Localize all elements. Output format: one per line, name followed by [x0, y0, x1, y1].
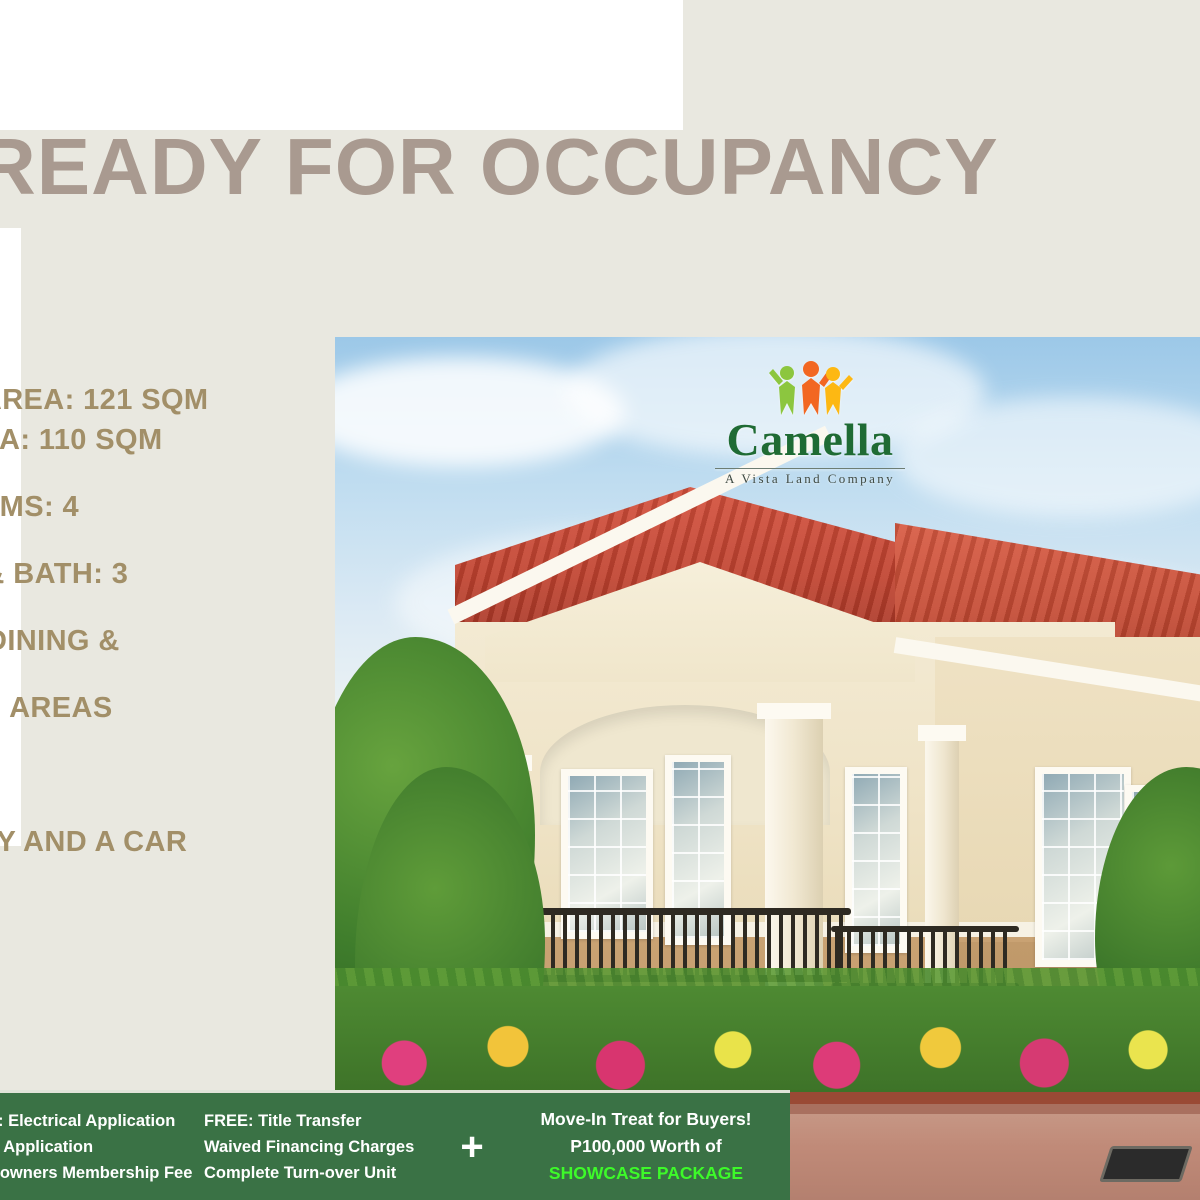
property-photo: Camella A Vista Land Company [335, 337, 1200, 1200]
spec-line: LOT AREA: 110 SQM [0, 420, 300, 460]
spec-line: BALCONY AND A CAR [0, 822, 300, 862]
spec-line: FLOOR AREA: 121 SQM [0, 380, 300, 420]
spec-item: KITCHEN AREAS [0, 688, 300, 728]
promo-line: Waived Financing Charges [204, 1134, 442, 1160]
column-capital [918, 725, 966, 741]
promo-column-freebies-2: FREE: Title Transfer Waived Financing Ch… [204, 1108, 442, 1186]
spec-line: GARAGE [0, 862, 300, 902]
promo-line: Homeowners Membership Fee [0, 1160, 204, 1186]
camella-logo: Camella A Vista Land Company [695, 357, 925, 487]
spec-line: LIVING, DINING & [0, 621, 300, 661]
plus-icon: + [442, 1127, 502, 1167]
promo-treat-headline: Move-In Treat for Buyers! [502, 1106, 790, 1133]
spec-line: TOILET & BATH: 3 [0, 554, 300, 594]
background-panel-white-top [0, 0, 683, 130]
property-spec-list: FLOOR AREA: 121 SQM LOT AREA: 110 SQM BE… [0, 380, 300, 929]
spec-line: BEDROOMS: 4 [0, 487, 300, 527]
spec-item: LIVING, DINING & [0, 621, 300, 661]
flower-bed [335, 986, 1200, 1096]
promo-line: Water Application [0, 1134, 204, 1160]
promo-column-move-in-treat: Move-In Treat for Buyers! P100,000 Worth… [502, 1106, 790, 1187]
spec-item: TOILET & BATH: 3 [0, 554, 300, 594]
page-title: READY FOR OCCUPANCY [0, 123, 1200, 211]
spec-item: FLOOR AREA: 121 SQM LOT AREA: 110 SQM [0, 380, 300, 460]
spec-item: BEDROOMS: 4 [0, 487, 300, 527]
logo-name: Camella [695, 415, 925, 465]
promo-showcase-package: SHOWCASE PACKAGE [502, 1160, 790, 1187]
promo-line: FREE: Title Transfer [204, 1108, 442, 1134]
promo-column-freebies-1: FREE: Electrical Application Water Appli… [0, 1108, 204, 1186]
spec-line: KITCHEN AREAS [0, 688, 300, 728]
logo-tagline: A Vista Land Company [695, 471, 925, 487]
spec-item: LANAI [0, 755, 300, 795]
logo-divider [715, 468, 905, 469]
logo-figures-icon [695, 357, 925, 415]
column-capital [757, 703, 831, 719]
promo-line: FREE: Electrical Application [0, 1108, 204, 1134]
door-mat [1099, 1146, 1193, 1182]
spec-line: LANAI [0, 755, 300, 795]
spec-item: BALCONY AND A CAR GARAGE [0, 822, 300, 902]
promo-line: Complete Turn-over Unit [204, 1160, 442, 1186]
promo-banner: FREE: Electrical Application Water Appli… [0, 1090, 790, 1200]
promo-treat-value: P100,000 Worth of [502, 1133, 790, 1160]
